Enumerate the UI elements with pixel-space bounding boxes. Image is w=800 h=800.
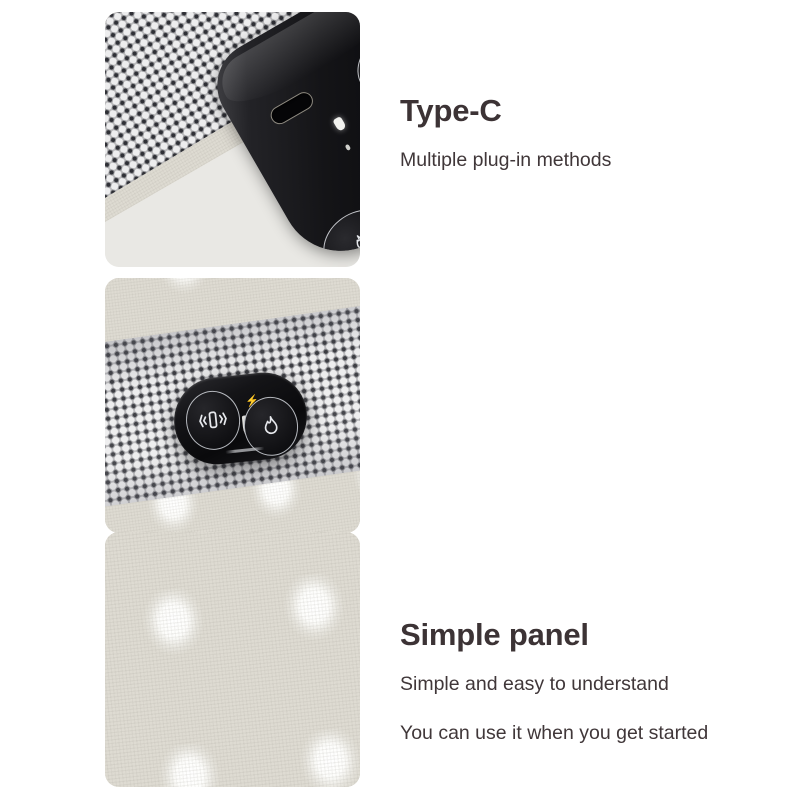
quilted-fabric-area — [105, 532, 360, 787]
feature-photo-type-c — [105, 12, 360, 267]
feature-row-skin-friendly-fabric: Skin friendly fabric Moisture wicking an… — [0, 532, 800, 790]
photo-simple-panel-scene: ⚡ — [105, 278, 360, 533]
feature-subtitle: Multiple plug-in methods — [400, 147, 795, 173]
quilted-fabric-texture — [105, 532, 360, 787]
usb-c-port-icon — [268, 89, 316, 127]
vibration-button — [183, 388, 243, 452]
feature-row-simple-panel: ⚡ Simple panel Simple and easy to unders… — [0, 278, 800, 536]
feature-text-type-c: Type-C Multiple plug-in methods — [400, 92, 795, 174]
vibration-icon — [184, 389, 242, 451]
led-indicator-icon — [332, 116, 347, 132]
vibration-button — [346, 16, 360, 111]
product-infographic: Type-C Multiple plug-in methods — [0, 0, 800, 800]
photo-type-c-scene — [105, 12, 360, 267]
feature-row-type-c: Type-C Multiple plug-in methods — [0, 12, 800, 270]
photo-fabric-scene — [105, 532, 360, 787]
vibration-icon — [347, 18, 360, 110]
feature-photo-fabric — [105, 532, 360, 787]
feature-photo-simple-panel: ⚡ — [105, 278, 360, 533]
status-dot-icon — [345, 144, 352, 151]
feature-title: Type-C — [400, 92, 795, 129]
